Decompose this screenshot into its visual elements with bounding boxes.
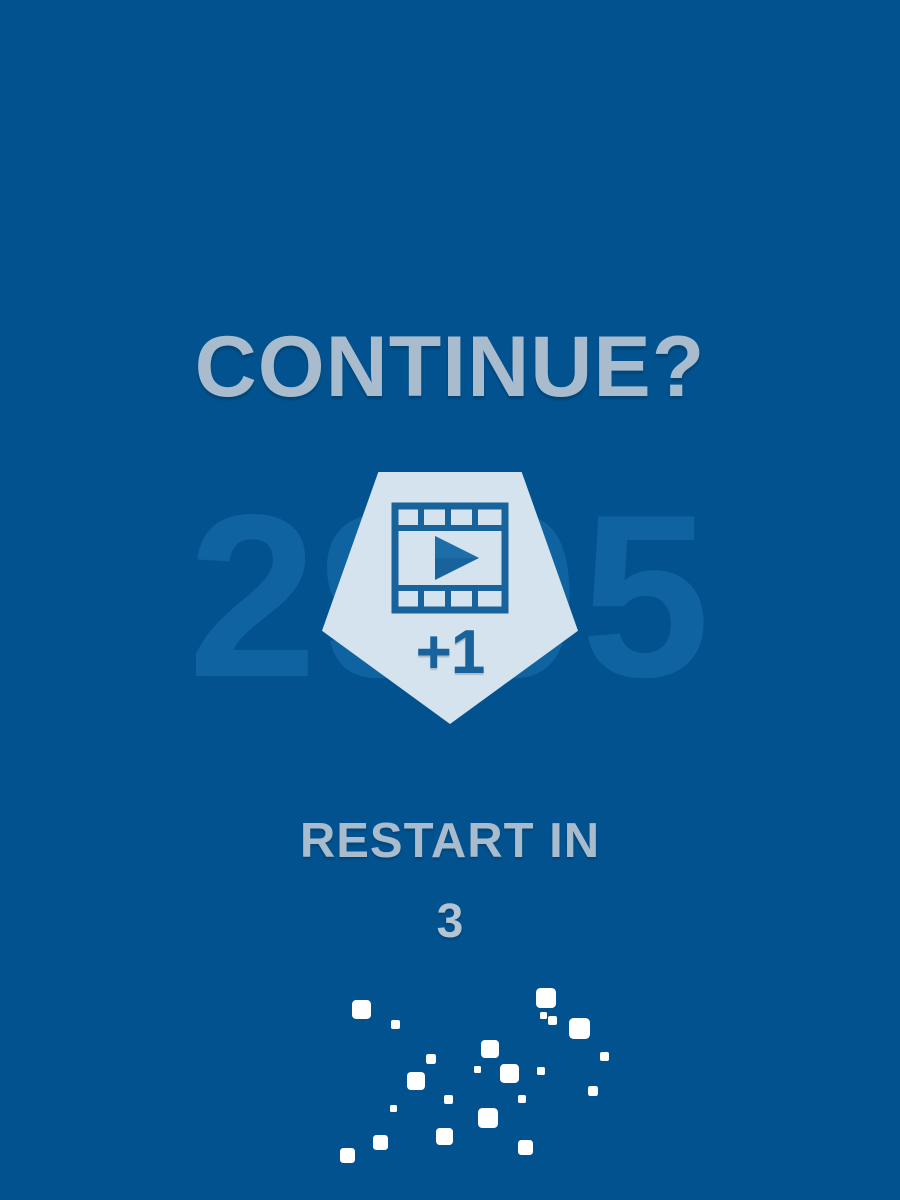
restart-label: RESTART IN xyxy=(0,812,900,870)
continue-screen: 2905 CONTINUE? +1 RESTART IN 3 xyxy=(0,0,900,1200)
particle xyxy=(540,1012,547,1019)
particle xyxy=(537,1067,545,1075)
particle xyxy=(518,1140,533,1155)
badge-bonus-label: +1 xyxy=(322,622,578,684)
particle xyxy=(426,1054,436,1064)
film-play-icon xyxy=(391,502,509,614)
page-title: CONTINUE? xyxy=(0,318,900,416)
particle xyxy=(436,1128,453,1145)
particle xyxy=(352,1000,371,1019)
particle xyxy=(340,1148,355,1163)
particle xyxy=(391,1020,400,1029)
particle xyxy=(481,1040,499,1058)
particle xyxy=(569,1018,590,1039)
particle xyxy=(474,1066,481,1073)
particle xyxy=(500,1064,519,1083)
particle xyxy=(373,1135,388,1150)
particle xyxy=(536,988,556,1008)
particle xyxy=(390,1105,397,1112)
particle xyxy=(518,1095,526,1103)
particle xyxy=(407,1072,425,1090)
particle xyxy=(600,1052,609,1061)
restart-countdown: 3 xyxy=(0,893,900,951)
particle xyxy=(548,1016,557,1025)
particle xyxy=(478,1108,498,1128)
particle xyxy=(588,1086,598,1096)
particle xyxy=(444,1095,453,1104)
continue-badge-button[interactable]: +1 xyxy=(322,472,578,724)
